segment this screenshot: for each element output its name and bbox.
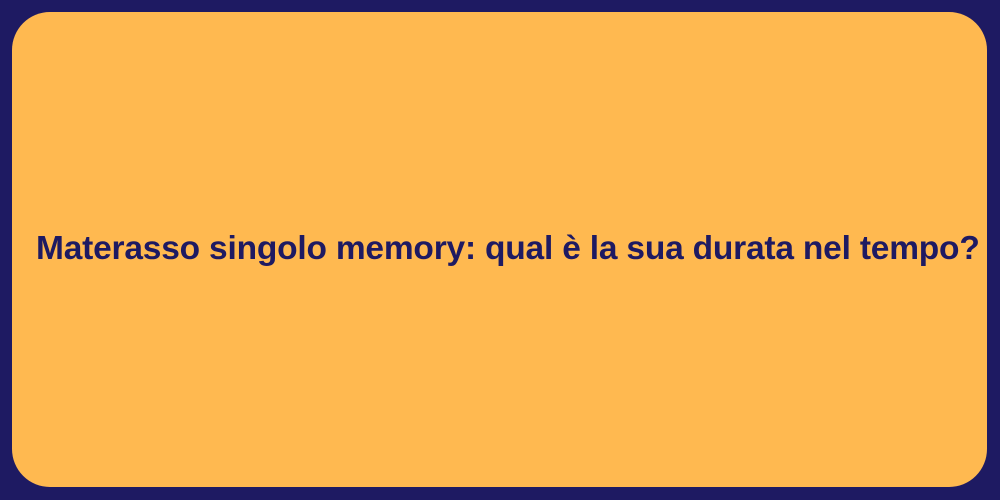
page-title: Materasso singolo memory: qual è la sua … [12, 229, 987, 269]
content-card: Materasso singolo memory: qual è la sua … [12, 12, 987, 487]
banner-root: Materasso singolo memory: qual è la sua … [0, 0, 1000, 500]
